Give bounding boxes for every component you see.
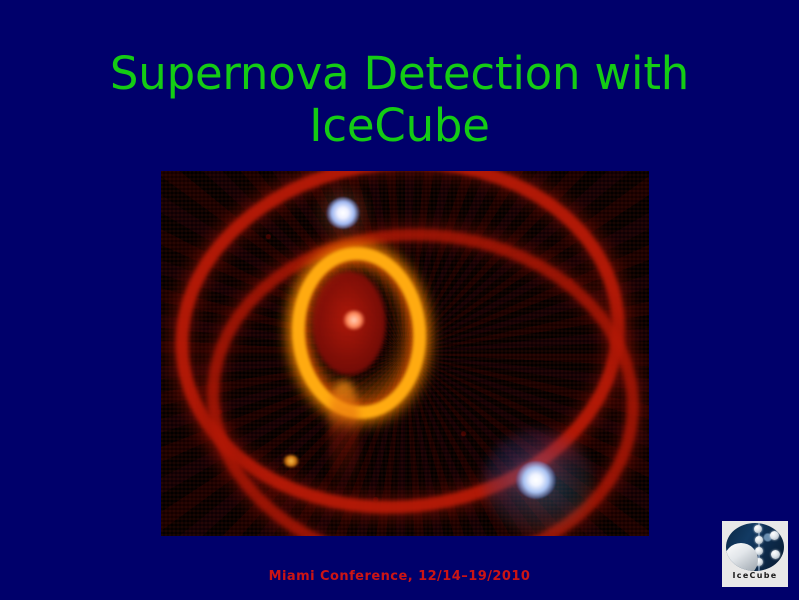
icecube-logo: IceCube [722,521,788,587]
ejecta-plume [329,381,359,491]
dom-sensor-icon [770,531,779,540]
lower-knot [283,455,299,467]
supernova-core [343,310,365,330]
ice-sphere-icon [726,543,758,571]
icecube-logo-disc [726,523,784,571]
dom-sensor-icon [754,525,762,533]
dom-sensor-icon [755,536,763,544]
slide-footer: Miami Conference, 12/14–19/2010 [0,569,799,584]
bottom-right-star [516,461,556,499]
top-star [326,197,360,229]
supernova-image [161,171,649,536]
presentation-slide: Supernova Detection with IceCube Miami C… [0,0,799,600]
dom-sensor-icon [771,550,780,559]
slide-title: Supernova Detection with IceCube [0,48,799,152]
icecube-logo-label: IceCube [722,571,788,580]
